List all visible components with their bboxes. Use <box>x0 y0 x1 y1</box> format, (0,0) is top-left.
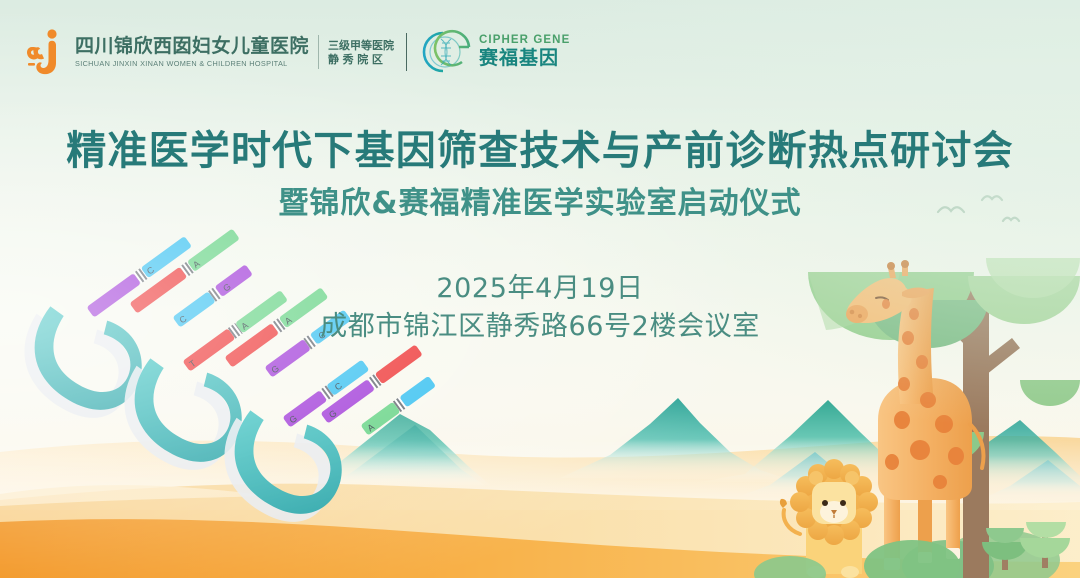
sub-title: 暨锦欣&赛福精准医学实验室启动仪式 <box>0 186 1080 222</box>
main-title: 精准医学时代下基因筛查技术与产前诊断热点研讨会 <box>0 128 1080 174</box>
logo-bar: 四川锦欣西囡妇女儿童医院 SICHUAN JINXIN XINAN WOMEN … <box>26 26 570 78</box>
event-banner: C A C G <box>0 0 1080 578</box>
hospital-grade-block: 三级甲等医院 静秀院区 <box>328 40 394 65</box>
cipher-gene-name-en: CIPHER GENE <box>479 35 570 47</box>
hospital-name-block: 四川锦欣西囡妇女儿童医院 SICHUAN JINXIN XINAN WOMEN … <box>75 36 309 67</box>
hospital-grade-line1: 三级甲等医院 <box>328 40 394 51</box>
event-date: 2025年4月19日 <box>0 272 1080 306</box>
event-venue: 成都市锦江区静秀路66号2楼会议室 <box>0 310 1080 344</box>
hospital-grade-line2: 静秀院区 <box>328 54 394 65</box>
cipher-gene-dna-circle-mark <box>419 29 475 75</box>
cipher-gene-name-block: CIPHER GENE 赛福基因 <box>479 35 570 69</box>
hospital-name-cn: 四川锦欣西囡妇女儿童医院 <box>75 36 309 56</box>
cipher-gene-name-cn: 赛福基因 <box>479 49 570 69</box>
logo-divider-2 <box>406 33 407 71</box>
hospital-name-en: SICHUAN JINXIN XINAN WOMEN & CHILDREN HO… <box>75 59 309 68</box>
hospital-heart-figure-mark <box>26 27 68 77</box>
logo-divider-1 <box>318 35 319 69</box>
